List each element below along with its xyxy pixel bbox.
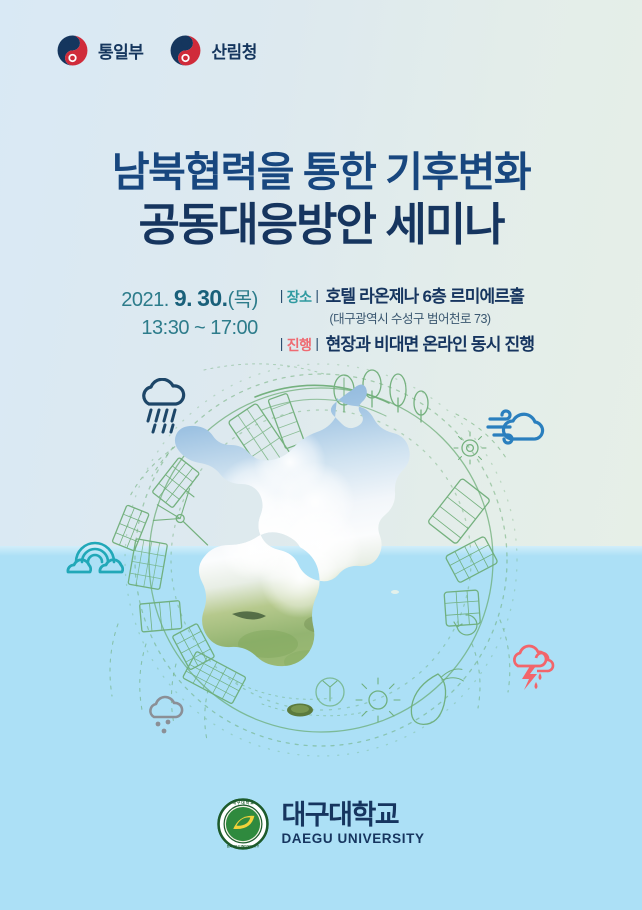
university-name: 대구대학교 DAEGU UNIVERSITY — [281, 802, 424, 846]
event-date: 2021. 9. 30.(목) — [108, 283, 258, 314]
poster-title: 남북협력을 통한 기후변화 공동대응방안 세미나 — [0, 148, 642, 251]
snow-cloud-icon — [144, 695, 192, 739]
mode-value: 현장과 비대면 온라인 동시 진행 — [326, 330, 535, 355]
sponsor-name: 산림청 — [211, 38, 256, 63]
daegu-university-seal-icon: 대 구 대 학 교 DAEGU UNIVERSITY — [217, 798, 269, 850]
date-day: 30. — [197, 285, 227, 311]
taegeuk-icon — [56, 34, 89, 67]
wind-cloud-icon — [484, 405, 546, 449]
venue-tag: 장소 — [280, 287, 319, 307]
event-time: 13:30 ~ 17:00 — [108, 314, 258, 342]
sponsor-logo-unification: 통일부 — [56, 34, 143, 67]
title-line-1: 남북협력을 통한 기후변화 — [0, 148, 642, 196]
svg-text:대 구 대 학 교: 대 구 대 학 교 — [233, 800, 255, 805]
detail-mode: 진행 현장과 비대면 온라인 동시 진행 — [280, 330, 534, 355]
date-weekday: (목) — [228, 289, 258, 311]
date-year: 2021. — [121, 289, 169, 311]
venue-address: (대구광역시 수성구 범어천로 73) — [286, 308, 534, 327]
taegeuk-icon — [169, 34, 202, 67]
sponsor-logo-forest-service: 산림청 — [169, 34, 256, 67]
jeju-island — [287, 704, 313, 717]
mode-tag: 진행 — [280, 335, 319, 355]
sponsor-name: 통일부 — [98, 38, 143, 63]
venue-value: 호텔 라온제나 6층 르미에르홀 — [326, 282, 525, 307]
event-details: 장소 호텔 라온제나 6층 르미에르홀 (대구광역시 수성구 범어천로 73) … — [280, 281, 534, 355]
university-name-en: DAEGU UNIVERSITY — [281, 832, 424, 846]
thunderstorm-icon — [508, 642, 556, 692]
event-info: 2021. 9. 30.(목) 13:30 ~ 17:00 장소 호텔 라온제나… — [0, 281, 642, 355]
sponsor-logos: 통일부 산림청 — [56, 34, 257, 67]
rain-cloud-icon — [134, 378, 190, 436]
detail-venue: 장소 호텔 라온제나 6층 르미에르홀 — [280, 282, 534, 307]
seminar-poster: 통일부 산림청 남북협력을 통한 기후변화 공동대응방안 세미나 2021. 9… — [0, 0, 642, 910]
university-name-ko: 대구대학교 — [281, 802, 424, 829]
svg-text:DAEGU UNIVERSITY: DAEGU UNIVERSITY — [227, 845, 260, 849]
university-logo: 대 구 대 학 교 DAEGU UNIVERSITY 대구대학교 DAEGU U… — [0, 798, 642, 850]
event-schedule: 2021. 9. 30.(목) 13:30 ~ 17:00 — [108, 281, 258, 342]
date-month: 9. — [174, 285, 192, 311]
title-line-2: 공동대응방안 세미나 — [0, 198, 642, 251]
rainbow-cloud-icon — [62, 532, 128, 576]
